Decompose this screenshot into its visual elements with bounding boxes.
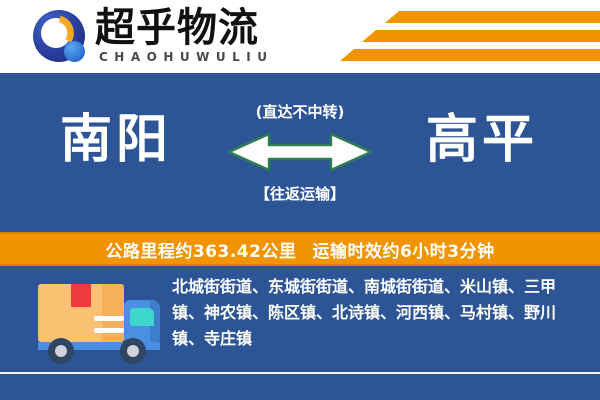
truck-red-stripe xyxy=(71,284,91,307)
bottom-divider xyxy=(0,372,600,374)
direct-service-note: (直达不中转) xyxy=(225,103,375,121)
duration-value: 运输时效约6小时3分钟 xyxy=(312,242,494,262)
truck-window xyxy=(130,308,154,326)
delivery-truck-icon xyxy=(38,278,168,364)
header: 超乎物流 CHAOHUWULIU xyxy=(0,0,600,73)
coverage-area-list: 北城街街道、东城街街道、南城街街道、米山镇、三甲 镇、神农镇、陈区镇、北诗镇、河… xyxy=(172,274,584,352)
stripe-3 xyxy=(340,49,600,61)
coverage-line: 镇、寺庄镇 xyxy=(172,326,584,352)
route-middle-group: (直达不中转) 【往返运输】 xyxy=(225,103,375,203)
route-info-bar: 公路里程约363.42公里运输时效约6小时3分钟 xyxy=(0,232,600,266)
logo-dot-shape xyxy=(64,41,85,62)
bidirectional-arrow-icon xyxy=(225,129,375,175)
truck-hub-rear xyxy=(55,345,67,357)
origin-city: 南阳 xyxy=(60,111,172,169)
brand-name-en: CHAOHUWULIU xyxy=(99,50,273,64)
round-trip-note: 【往返运输】 xyxy=(225,185,375,203)
truck-label-line-2 xyxy=(94,328,124,333)
truck-hub-front xyxy=(127,345,139,357)
logistics-route-banner: 超乎物流 CHAOHUWULIU 南阳 高平 (直达不中转) 【往返运输】 公路… xyxy=(0,0,600,400)
brand-logo-icon xyxy=(33,10,89,66)
truck-cargo-shade xyxy=(102,284,124,342)
destination-city: 高平 xyxy=(426,111,538,169)
orange-stripes-icon xyxy=(340,11,600,63)
route-panel: 南阳 高平 (直达不中转) 【往返运输】 xyxy=(0,73,600,232)
truck-label-line-1 xyxy=(94,316,124,321)
coverage-line: 北城街街道、东城街街道、南城街街道、米山镇、三甲 xyxy=(172,274,584,300)
brand-name-cn: 超乎物流 xyxy=(95,8,259,48)
distance-value: 公路里程约363.42公里 xyxy=(105,242,296,262)
route-info-text: 公路里程约363.42公里运输时效约6小时3分钟 xyxy=(105,237,494,262)
coverage-line: 镇、神农镇、陈区镇、北诗镇、河西镇、马村镇、野川 xyxy=(172,300,584,326)
coverage-panel: 北城街街道、东城街街道、南城街街道、米山镇、三甲 镇、神农镇、陈区镇、北诗镇、河… xyxy=(0,266,600,400)
stripe-2 xyxy=(362,30,600,42)
stripe-1 xyxy=(385,11,600,23)
